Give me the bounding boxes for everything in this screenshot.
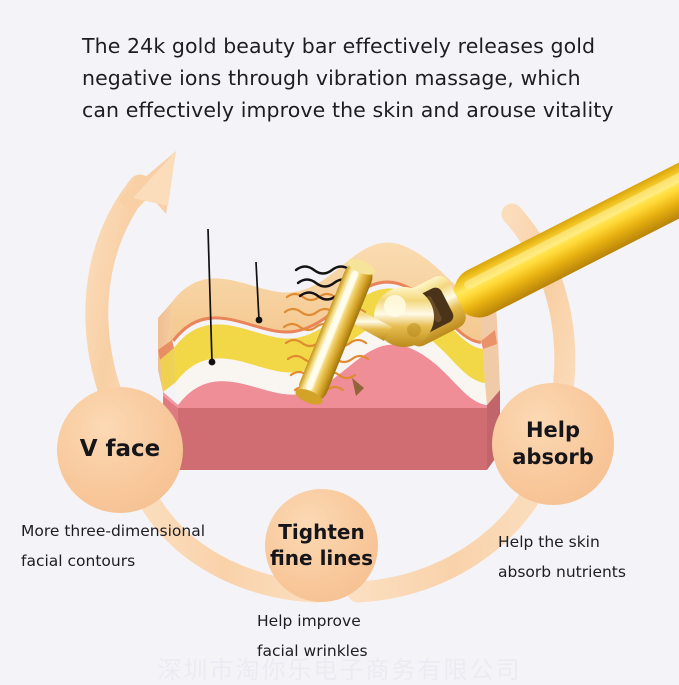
company-watermark: 深圳市淘你乐电子商务有限公司 [0, 650, 679, 685]
benefit-bubble-label-line2: fine lines [270, 546, 373, 572]
benefit-caption-help-absorb: Help the skin absorb nutrients [498, 527, 679, 587]
leader-dot-dermis [209, 359, 216, 366]
benefit-bubble-label: V face [80, 435, 161, 464]
leader-dot-epidermis [256, 317, 263, 324]
benefit-bubble-v-face[interactable]: V face [57, 387, 183, 513]
subcutaneous-front-face [178, 405, 487, 470]
benefit-bubble-help-absorb[interactable]: Help absorb [492, 383, 614, 505]
benefit-caption-v-face: More three-dimensional facial contours [21, 516, 251, 576]
benefit-bubble-label-line1: Tighten [278, 520, 364, 546]
benefit-bubble-label-line1: Help [526, 417, 580, 444]
benefit-bubble-label-line2: absorb [512, 444, 594, 471]
infographic-canvas: The 24k gold beauty bar effectively rele… [0, 0, 679, 679]
benefit-bubble-tighten-fine-lines[interactable]: Tighten fine lines [265, 489, 378, 602]
